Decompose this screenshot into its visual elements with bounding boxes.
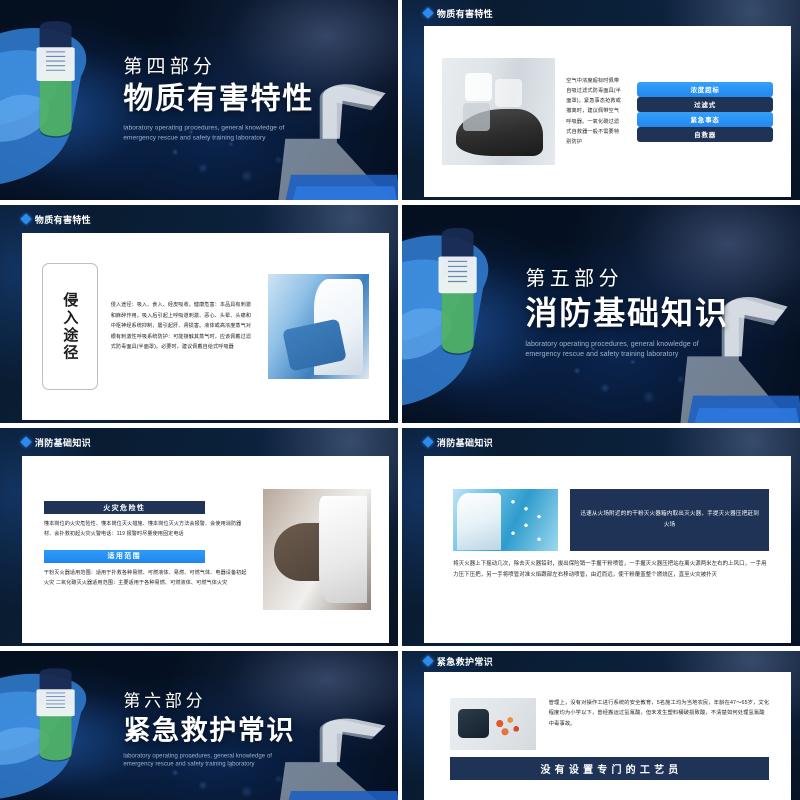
gloved-hand-test-tube-image [0,661,135,800]
gloved-hand-test-tube-image [402,218,537,419]
button-concentration-exceeded[interactable]: 浓度超标 [637,82,773,97]
doctor-with-clipboard-photo [268,274,369,378]
slide-thumbnail-8[interactable]: 紧急救护常识 管理上，没有对操作工进行系统的安全教育，5名施工均为当地农民，年龄… [402,651,800,800]
button-emergency-state[interactable]: 紧急事态 [637,112,773,127]
divider-text-block: 第五部分 消防基础知识 laboratory operating procedu… [525,268,772,360]
slide-header: 消防基础知识 [402,428,800,456]
slide2-body-text: 空气中浓度超标时佩带自吸过滤式防毒面具(半面罩)。紧急事态抢救或撤离时，建议佩带… [566,76,622,147]
medical-dna-research-photo [453,489,557,551]
divider-text-block: 第四部分 物质有害特性 laboratory operating procedu… [123,57,370,142]
slide-thumbnail-5[interactable]: 消防基础知识 火灾危险性 懂本岗位的火灾危险性、懂本岗位灭火措施、懂本岗位灭火方… [0,428,398,646]
slide-content-card: 迅速从火场附近的的干粉灭火器箱内取出灭火器，手提灭火器压把赶到火场 将灭火器上下… [424,456,791,642]
button-self-rescuer[interactable]: 自救器 [637,127,773,142]
section-title: 紧急救护常识 [123,715,370,746]
slide-header-title: 物质有害特性 [437,7,493,20]
button-filter-type[interactable]: 过滤式 [637,97,773,112]
section-bar-scope: 适用范围 [44,550,205,563]
slide5-paragraph-1: 懂本岗位的火灾危险性、懂本岗位灭火措施、懂本岗位灭火方法会报警、会使用消防器材、… [44,519,250,539]
diamond-icon [422,436,433,447]
slide-header: 消防基础知识 [0,428,398,456]
section-part-label: 第四部分 [123,57,370,78]
diamond-icon [20,213,31,224]
fire-safety-equipment-photo [263,489,371,610]
slide-header-title: 消防基础知识 [35,436,91,449]
slide-header-title: 紧急救护常识 [437,655,493,668]
slide-content-card: 空气中浓度超标时佩带自吸过滤式防毒面具(半面罩)。紧急事态抢救或撤离时，建议佩带… [424,26,791,197]
slide-header: 紧急救护常识 [402,651,800,672]
dental-clinic-photo [442,58,554,164]
slide-header-title: 物质有害特性 [35,213,91,226]
slide-thumbnail-6[interactable]: 消防基础知识 迅速从火场附近的的干粉灭火器箱内取出灭火器，手提灭火器压把赶到火场… [402,428,800,646]
slide3-body-text: 侵入途径：吸入、食入、经皮吸收。健康危害：本品具有刺激和麻醉作用。吸入后引起上呼… [111,300,255,352]
section-subtitle-line2: emergency rescue and safety training lab… [123,761,370,770]
slide-content-card: 侵入途径 侵入途径：吸入、食入、经皮吸收。健康危害：本品具有刺激和麻醉作用。吸入… [22,233,389,419]
glucose-meter-and-pills-photo [450,698,536,750]
button-list: 浓度超标 过滤式 紧急事态 自救器 [634,82,773,142]
slide-thumbnail-2[interactable]: 物质有害特性 空气中浓度超标时佩带自吸过滤式防毒面具(半面罩)。紧急事态抢救或撤… [402,0,800,200]
section-title: 消防基础知识 [525,295,772,332]
section-subtitle-line2: emergency rescue and safety training lab… [123,133,370,142]
diamond-icon [20,436,31,447]
vertical-label-text: 侵入途径 [62,292,77,362]
slide-header: 物质有害特性 [0,205,398,233]
slide-content-card: 火灾危险性 懂本岗位的火灾危险性、懂本岗位灭火措施、懂本岗位灭火方法会报警、会使… [22,456,389,642]
slide8-banner: 没有设置专门的工艺员 [450,757,770,780]
slide-thumbnail-3[interactable]: 物质有害特性 侵入途径 侵入途径：吸入、食入、经皮吸收。健康危害：本品具有刺激和… [0,205,398,423]
diamond-icon [422,7,433,18]
slide-thumbnail-grid: 第四部分 物质有害特性 laboratory operating procedu… [0,0,800,800]
slide-header-title: 消防基础知识 [437,436,493,449]
section-subtitle-line2: emergency rescue and safety training lab… [525,350,772,360]
slide6-callout-box: 迅速从火场附近的的干粉灭火器箱内取出灭火器，手提灭火器压把赶到火场 [570,489,769,551]
vertical-label-box: 侵入途径 [42,263,98,390]
slide-header: 物质有害特性 [402,0,800,26]
section-bar-fire-hazard: 火灾危险性 [44,501,205,514]
slide6-paragraph: 将灭火器上下摇动几次，除去灭火器铅封，拔出保险销一手握干粉喷管，一手握灭火器压把… [453,559,769,581]
slide-thumbnail-7[interactable]: 第六部分 紧急救护常识 laboratory operating procedu… [0,651,398,800]
slide5-paragraph-2: 干粉灭火器适用范围：适用于扑救各种易燃、可燃液体、易燃、可燃气体、电器设备初起火… [44,568,250,588]
slide-thumbnail-4[interactable]: 第五部分 消防基础知识 laboratory operating procedu… [402,205,800,423]
section-part-label: 第五部分 [525,268,772,290]
section-subtitle-line1: laboratory operating procedures, general… [525,340,772,350]
slide8-paragraph: 管理上，没有对操作工进行系统的安全教育，5名施工均为当地农民，年龄在47～65岁… [549,698,770,730]
slide-content-card: 管理上，没有对操作工进行系统的安全教育，5名施工均为当地农民，年龄在47～65岁… [424,672,791,800]
slide-thumbnail-1[interactable]: 第四部分 物质有害特性 laboratory operating procedu… [0,0,398,200]
section-title: 物质有害特性 [123,82,370,117]
section-subtitle-line1: laboratory operating procedures, general… [123,124,370,133]
diamond-icon [422,656,433,667]
gloved-hand-test-tube-image [0,12,135,196]
divider-text-block: 第六部分 紧急救护常识 laboratory operating procedu… [123,692,370,769]
section-subtitle-line1: laboratory operating procedures, general… [123,752,370,761]
section-part-label: 第六部分 [123,692,370,711]
